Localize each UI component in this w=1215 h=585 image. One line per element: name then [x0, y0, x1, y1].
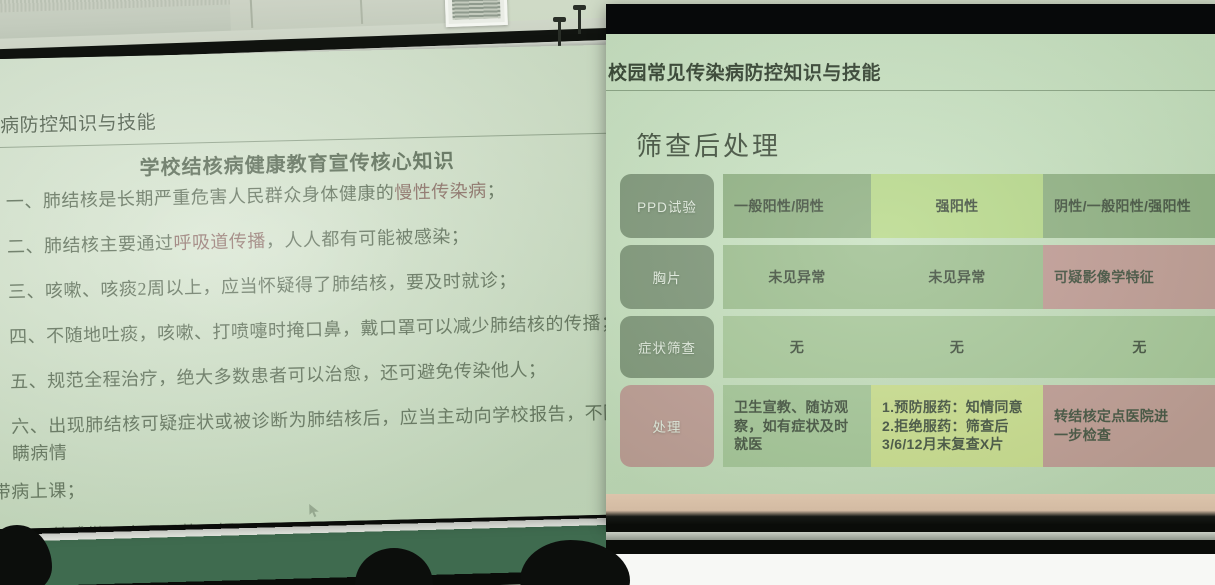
- table-row: PPD试验一般阳性/阴性强阳性阴性/一般阳性/强阳性: [620, 174, 1215, 238]
- table-cell-text: 无: [790, 338, 804, 357]
- table-cell-text: 可疑影像学特征: [1054, 268, 1154, 287]
- table-cell: 转结核定点医院进 一步检查: [1043, 385, 1215, 467]
- list-item-text: 四、不随地吐痰，咳嗽、打喷嚏时掩口鼻，戴口罩可以减少肺结核的传播；: [9, 313, 620, 347]
- mouse-cursor-icon: [309, 504, 320, 518]
- right-projection-screen: 校园常见传染病防控知识与技能 筛查后处理 PPD试验一般阳性/阴性强阳性阴性/一…: [606, 4, 1215, 524]
- table-cell: 阴性/一般阳性/强阳性: [1043, 174, 1215, 238]
- list-item: 三、咳嗽、咳痰2周以上，应当怀疑得了肺结核，要及时就诊；: [0, 264, 619, 306]
- left-projection-screen: 常见传染病防控知识与技能 学校结核病健康教育宣传核心知识 一、肺结核是长期严重危…: [0, 45, 619, 530]
- table-cell: 一般阳性/阴性: [723, 174, 871, 238]
- table-cell: 卫生宣教、随访观 察，如有症状及时 就医: [723, 385, 871, 467]
- right-screen-lower-frame: [606, 524, 1215, 585]
- table-row-cells: 一般阳性/阴性强阳性阴性/一般阳性/强阳性: [723, 174, 1215, 238]
- left-slide-canvas: 常见传染病防控知识与技能 学校结核病健康教育宣传核心知识 一、肺结核是长期严重危…: [0, 45, 619, 530]
- right-screen-bottom-border: [606, 494, 1215, 524]
- list-item-text: 三、咳嗽、咳痰2周以上，应当怀疑得了肺结核，要及时就诊；: [8, 270, 517, 302]
- table-cell-text: 未见异常: [768, 268, 825, 287]
- table-cell: 可疑影像学特征: [1043, 245, 1215, 309]
- list-item: 六、出现肺结核可疑症状或被诊断为肺结核后，应当主动向学校报告，不隐瞒病情: [0, 400, 619, 468]
- table-cell: 未见异常: [871, 245, 1043, 309]
- list-item-text: 二、肺结核主要通过呼吸道传播，人人都有可能被感染；: [7, 226, 470, 257]
- table-cell-text: 卫生宣教、随访观 察，如有症状及时 就医: [734, 398, 848, 455]
- table-row-cells: 卫生宣教、随访观 察，如有症状及时 就医1.预防服药：知情同意 2.拒绝服药：筛…: [723, 385, 1215, 467]
- ceiling-hook-icon: [558, 20, 561, 46]
- table-cell-text: 未见异常: [928, 268, 985, 287]
- right-slide-canvas: 校园常见传染病防控知识与技能 筛查后处理 PPD试验一般阳性/阴性强阳性阴性/一…: [606, 34, 1215, 494]
- table-cell-text: 无: [950, 338, 964, 357]
- table-row: 胸片未见异常未见异常可疑影像学特征: [620, 245, 1215, 309]
- table-cell-text: 1.预防服药：知情同意 2.拒绝服药：筛查后 3/6/12月末复查X片: [882, 398, 1023, 455]
- table-row: 处理卫生宣教、随访观 察，如有症状及时 就医1.预防服药：知情同意 2.拒绝服药…: [620, 385, 1215, 467]
- table-cell-text: 无: [1132, 338, 1146, 357]
- table-cell: 未见异常: [723, 245, 871, 309]
- left-slide-bullet-list: 一、肺结核是长期严重危害人民群众身体健康的慢性传染病； 二、肺结核主要通过呼吸道…: [0, 174, 619, 529]
- table-cell-text: 一般阳性/阴性: [734, 197, 824, 216]
- right-slide-title: 筛查后处理: [636, 126, 781, 163]
- table-row-cells: 未见异常未见异常可疑影像学特征: [723, 245, 1215, 309]
- list-item-text: 带病上课；: [0, 480, 85, 502]
- table-row-label: 症状筛查: [620, 316, 714, 378]
- right-slide-header: 校园常见传染病防控知识与技能: [608, 58, 881, 85]
- left-slide-header: 常见传染病防控知识与技能: [0, 96, 619, 139]
- table-cell: 无: [871, 316, 1043, 378]
- screening-followup-table: PPD试验一般阳性/阴性强阳性阴性/一般阳性/强阳性胸片未见异常未见异常可疑影像…: [620, 174, 1215, 474]
- table-row-label: 处理: [620, 385, 714, 467]
- air-vent-icon: [444, 0, 508, 27]
- table-cell: 无: [723, 316, 871, 378]
- list-item: 二、肺结核主要通过呼吸道传播，人人都有可能被感染；: [0, 219, 619, 261]
- classroom-photo-scene: 常见传染病防控知识与技能 学校结核病健康教育宣传核心知识 一、肺结核是长期严重危…: [0, 0, 1215, 585]
- table-cell-text: 转结核定点医院进 一步检查: [1054, 407, 1168, 445]
- list-item-continuation: 带病上课；: [0, 464, 619, 506]
- list-item-text: 六、出现肺结核可疑症状或被诊断为肺结核后，应当主动向学校报告，不隐瞒病情: [11, 403, 619, 463]
- table-row-cells: 无无无: [723, 316, 1215, 378]
- table-cell: 强阳性: [871, 174, 1043, 238]
- right-screen-top-border: [606, 4, 1215, 34]
- right-slide-divider: [606, 90, 1215, 91]
- list-item-text: 五、规范全程治疗，绝大多数患者可以治愈，还可避免传染他人；: [10, 360, 547, 393]
- list-item: 四、不随地吐痰，咳嗽、打喷嚏时掩口鼻，戴口罩可以减少肺结核的传播；: [0, 309, 619, 351]
- list-item: 五、规范全程治疗，绝大多数患者可以治愈，还可避免传染他人；: [0, 355, 619, 397]
- table-cell-text: 阴性/一般阳性/强阳性: [1054, 197, 1191, 216]
- table-row: 症状筛查无无无: [620, 316, 1215, 378]
- list-item-text: 一、肺结核是长期严重危害人民群众身体健康的慢性传染病；: [6, 180, 506, 212]
- table-row-label: PPD试验: [620, 174, 714, 238]
- table-row-label: 胸片: [620, 245, 714, 309]
- table-cell: 1.预防服药：知情同意 2.拒绝服药：筛查后 3/6/12月末复查X片: [871, 385, 1043, 467]
- table-cell: 无: [1043, 316, 1215, 378]
- ceiling-hook-icon: [578, 8, 581, 34]
- table-cell-text: 强阳性: [936, 197, 979, 216]
